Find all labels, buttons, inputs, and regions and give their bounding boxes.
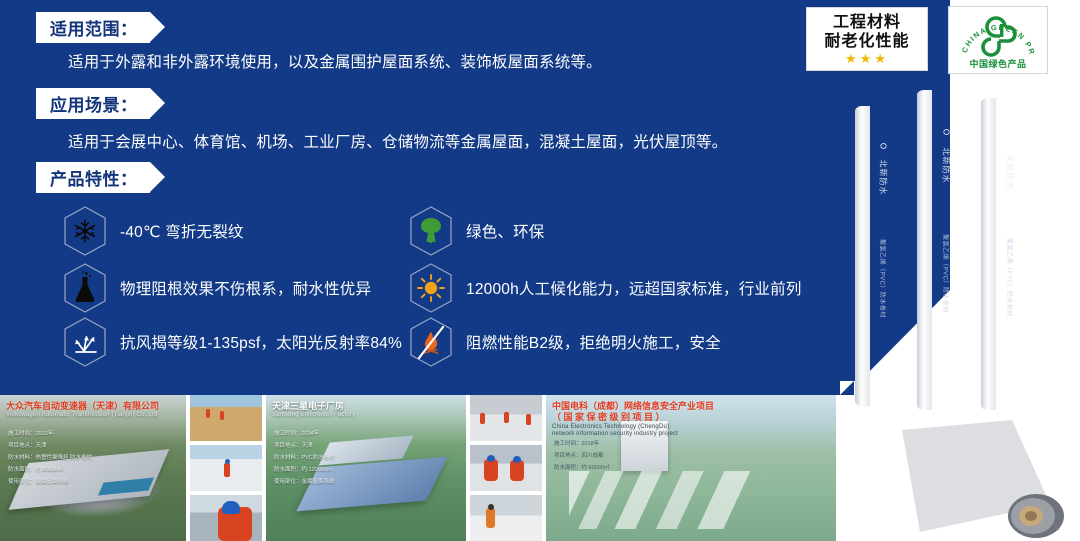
project-card: 天津三星电子厂房 Samsung Electronics Factory 施工时… (266, 395, 542, 541)
project-thumbnail[interactable] (470, 395, 542, 441)
project-bullet: 防水材料：PVC防水卷材 (274, 453, 335, 461)
roll-body (996, 98, 1039, 410)
slide-canvas: 适用范围： 适用于外露和非外露环境使用，以及金属围护屋面系统、装饰板屋面系统等。… (0, 0, 1080, 541)
tree-icon (408, 205, 454, 257)
project-bullet: 施工时间：2013年 (8, 429, 92, 437)
roll-core-cap (855, 106, 870, 406)
project-title-zh-line2: （ 国 家 保 密 级 别 项 目 ） (552, 412, 714, 423)
project-bullet: 防水材料：热塑性聚烯烃 防水卷材 (8, 453, 92, 461)
project-title-en-line2: network information security industry pr… (552, 431, 714, 439)
roll-core-cap (981, 98, 996, 410)
section-tag-features-label: 产品特性： (50, 165, 138, 190)
project-render-image: 天津三星电子厂房 Samsung Electronics Factory 施工时… (266, 395, 466, 541)
product-roll: O 北新防水 聚氯乙烯（PVC）防水卷材 (855, 106, 911, 406)
project-thumbnail-list (470, 395, 542, 541)
project-caption: 中国电科（成都）网络信息安全产业项目 （ 国 家 保 密 级 别 项 目 ） C… (552, 401, 714, 439)
roll-brand-text: 北新防水 (941, 148, 952, 184)
project-bullet: 防水面积：约 120000㎡ (274, 465, 335, 473)
feature-label: 阻燃性能B2级，拒绝明火施工，安全 (466, 331, 721, 353)
roll-brand-text: 北新防水 (878, 160, 889, 196)
project-thumbnail-list (190, 395, 262, 541)
roll-product-name: 聚氯乙烯（PVC）防水卷材 (879, 239, 888, 318)
feature-item: 物理阻根效果不伤根系，耐水性优异 (62, 262, 371, 314)
svg-text:CHINA GREEN PRODUCT: CHINA GREEN PRODUCT (956, 9, 1037, 57)
certification-badge-china-green-product: CHINA GREEN PRODUCT 中国绿色产品 (948, 6, 1048, 74)
feature-label: -40℃ 弯折无裂纹 (120, 220, 244, 242)
project-render-image: 大众汽车自动变速器（天津）有限公司 Volkswagen Automatic T… (0, 395, 186, 541)
project-bullet: 使用部位：金属屋面系统 (274, 477, 335, 485)
scenarios-body-text: 适用于会展中心、体育馆、机场、工业厂房、仓储物流等金属屋面，混凝土屋面，光伏屋顶… (68, 130, 727, 152)
project-thumbnail[interactable] (470, 445, 542, 491)
project-bullet: 施工时间：2014年 (274, 429, 335, 437)
flask-icon (62, 262, 108, 314)
section-tag-scenarios-label: 应用场景： (50, 91, 138, 116)
scope-body-text: 适用于外露和非外露环境使用，以及金属围护屋面系统、装饰板屋面系统等。 (68, 50, 602, 72)
cert-line1: 工程材料 (833, 13, 901, 32)
blue-background-strip (0, 381, 840, 395)
certification-badge-engineering-material: 工程材料 耐老化性能 ★★★ (806, 7, 928, 71)
project-bullets: 施工时间：2013年 项目地点：天津 防水材料：热塑性聚烯烃 防水卷材 防水面积… (8, 429, 92, 489)
light-reflection-icon (62, 316, 108, 368)
project-thumbnail[interactable] (190, 445, 262, 491)
project-thumbnail[interactable] (190, 395, 262, 441)
section-tag-scenarios: 应用场景： (36, 88, 150, 119)
feature-item: 抗风揭等级1-135psf，太阳光反射率84% (62, 316, 402, 368)
brand-mark-icon: O (879, 143, 888, 150)
project-bullets: 施工时间：2018年 项目地点：四川成都 防水面积：约 60000㎡ (554, 439, 609, 475)
feature-label: 物理阻根效果不伤根系，耐水性优异 (120, 277, 371, 299)
project-thumbnail[interactable] (190, 495, 262, 541)
project-bullet: 使用部位：金属屋面系统 (8, 477, 92, 485)
project-caption: 大众汽车自动变速器（天津）有限公司 Volkswagen Automatic T… (6, 401, 159, 420)
brand-mark-icon: O (942, 129, 951, 136)
china-green-product-logo-icon: CHINA GREEN PRODUCT (956, 9, 1040, 61)
project-thumbnail[interactable] (470, 495, 542, 541)
project-title-en: Samsung Electronics Factory (272, 412, 355, 420)
product-roll: O 北新防水 聚氯乙烯（PVC）防水卷材 (981, 98, 1039, 410)
feature-item: 12000h人工候化能力，远超国家标准，行业前列 (408, 262, 802, 314)
cert-line2: 耐老化性能 (824, 32, 909, 51)
roll-body (870, 106, 911, 406)
brand-mark-icon: O (1006, 136, 1015, 143)
feature-item: 绿色、环保 (408, 205, 545, 257)
unrolled-membrane-sheet (900, 412, 1080, 541)
feature-label: 抗风揭等级1-135psf，太阳光反射率84% (120, 331, 402, 353)
no-flame-icon (408, 316, 454, 368)
cert-star-rating: ★★★ (845, 52, 889, 66)
project-card: 大众汽车自动变速器（天津）有限公司 Volkswagen Automatic T… (0, 395, 262, 541)
feature-item: -40℃ 弯折无裂纹 (62, 205, 244, 257)
project-bullet: 施工时间：2018年 (554, 439, 609, 447)
project-title-en-line1: China Electronics Technology (ChengDu) (552, 424, 714, 432)
section-tag-scope: 适用范围： (36, 12, 150, 43)
roll-product-name: 聚氯乙烯（PVC）防水卷材 (1006, 238, 1015, 317)
roll-product-name: 聚氯乙烯（PVC）防水卷材 (942, 234, 951, 313)
sun-icon (408, 262, 454, 314)
section-tag-scope-label: 适用范围： (50, 15, 138, 40)
product-roll-group: O 北新防水 聚氯乙烯（PVC）防水卷材 O 北新防水 聚氯乙烯（PVC）防水卷… (855, 78, 1080, 408)
project-card: 中国电科（成都）网络信息安全产业项目 （ 国 家 保 密 级 别 项 目 ） C… (546, 395, 836, 541)
feature-item: 阻燃性能B2级，拒绝明火施工，安全 (408, 316, 721, 368)
roll-body (932, 90, 975, 410)
feature-label: 绿色、环保 (466, 220, 545, 242)
snowflake-icon (62, 205, 108, 257)
project-title-zh-line1: 中国电科（成都）网络信息安全产业项目 (552, 401, 714, 412)
section-tag-features: 产品特性： (36, 162, 150, 193)
project-title-zh: 大众汽车自动变速器（天津）有限公司 (6, 401, 159, 412)
project-caption: 天津三星电子厂房 Samsung Electronics Factory (272, 401, 355, 420)
product-roll: O 北新防水 聚氯乙烯（PVC）防水卷材 (917, 90, 975, 410)
project-bullet: 项目地点：四川成都 (554, 451, 609, 459)
roll-core-cap (917, 90, 932, 410)
project-title-zh: 天津三星电子厂房 (272, 401, 355, 412)
feature-label: 12000h人工候化能力，远超国家标准，行业前列 (466, 277, 802, 299)
project-bullet: 项目地点：天津 (274, 441, 335, 449)
project-bullet: 项目地点：天津 (8, 441, 92, 449)
project-bullets: 施工时间：2014年 项目地点：天津 防水材料：PVC防水卷材 防水面积：约 1… (274, 429, 335, 489)
project-bullet: 防水面积：约 60000㎡ (554, 463, 609, 471)
roll-brand-text: 北新防水 (1005, 154, 1016, 190)
project-title-en: Volkswagen Automatic Transmission (Tianj… (6, 412, 159, 420)
project-bullet: 防水面积：约 80000㎡ (8, 465, 92, 473)
project-render-image: 中国电科（成都）网络信息安全产业项目 （ 国 家 保 密 级 别 项 目 ） C… (546, 395, 836, 541)
